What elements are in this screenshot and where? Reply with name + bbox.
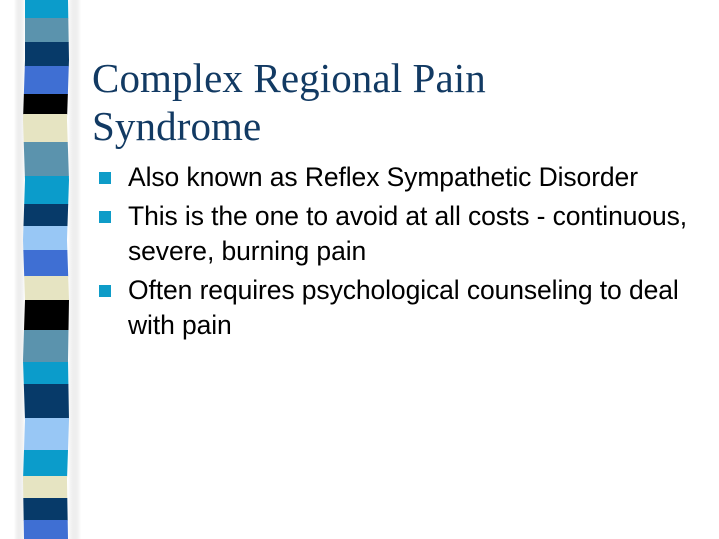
stripe-band [18,204,76,227]
stripe-band [18,18,76,43]
filled-square-bullet-icon [99,211,111,223]
stripe-color-bands [18,0,76,539]
stripe-band [18,300,76,331]
stripe-band [18,94,76,115]
list-item: Often requires psychological counseling … [96,273,708,342]
stripe-band [18,250,76,277]
list-item: This is the one to avoid at all costs - … [96,199,708,268]
slide-title: Complex Regional Pain Syndrome [92,55,612,151]
stripe-band [18,476,76,499]
stripe-band [18,226,76,251]
stripe-band [18,66,76,95]
bullet-list: Also known as Reflex Sympathetic Disorde… [96,160,708,347]
vertical-color-bar-stripe [0,0,96,539]
stripe-band [18,176,76,205]
filled-square-bullet-icon [99,172,111,184]
bullet-text: Also known as Reflex Sympathetic Disorde… [128,160,708,194]
bullet-text: This is the one to avoid at all costs - … [128,199,708,268]
stripe-band [18,0,76,19]
stripe-band [18,142,76,177]
stripe-band [18,520,76,539]
stripe-band [18,384,76,419]
stripe-band [18,418,76,451]
slide-canvas: Complex Regional Pain Syndrome Also know… [0,0,719,539]
stripe-band [18,362,76,385]
list-item: Also known as Reflex Sympathetic Disorde… [96,160,708,194]
stripe-band [18,330,76,363]
bullet-text: Often requires psychological counseling … [128,273,708,342]
stripe-band [18,276,76,301]
filled-square-bullet-icon [99,285,111,297]
stripe-band [18,114,76,143]
stripe-band [18,450,76,477]
stripe-band [18,42,76,67]
stripe-band [18,498,76,521]
